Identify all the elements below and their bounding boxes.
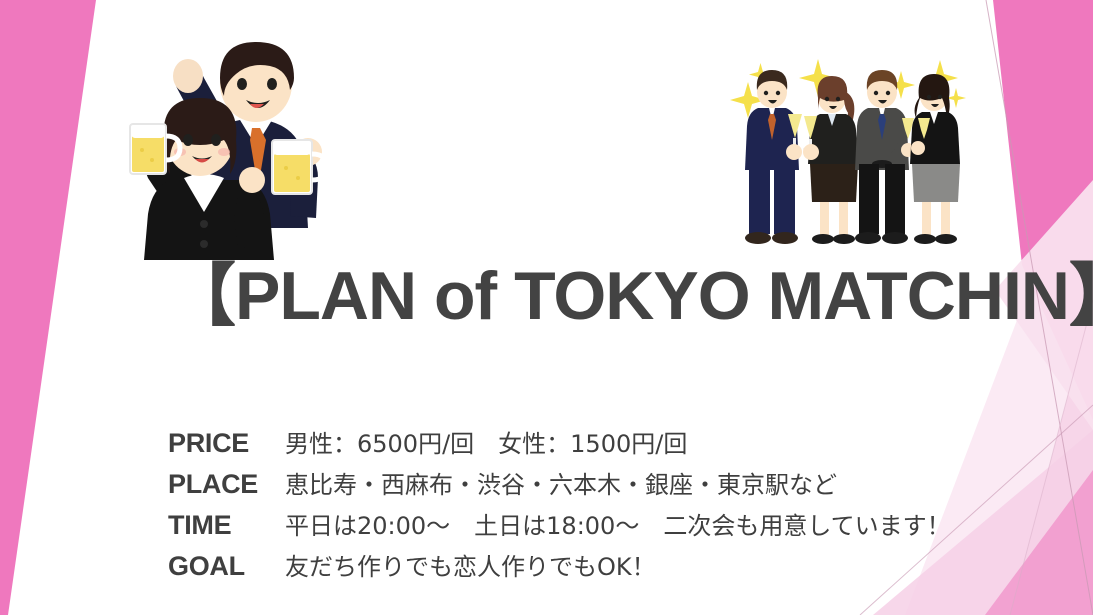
detail-value-goal: 友だち作りでも恋人作りでもOK！: [285, 547, 656, 582]
detail-label-time: TIME: [168, 510, 285, 541]
detail-label-place: PLACE: [168, 469, 285, 500]
detail-row-place: PLACE 恵比寿・西麻布・渋谷・六本木・銀座・東京駅など: [168, 465, 988, 506]
slide-title: 【PLAN of TOKYO MATCHIN】: [168, 262, 1008, 330]
cheers-couple-illustration: [100, 28, 345, 260]
detail-row-price: PRICE 男性：6500円/回 女性：1500円/回: [168, 424, 988, 465]
person-man-grey: [855, 70, 915, 244]
detail-label-price: PRICE: [168, 428, 285, 459]
detail-value-price: 男性：6500円/回 女性：1500円/回: [285, 424, 687, 459]
slide-canvas: 【PLAN of TOKYO MATCHIN】 PRICE 男性：6500円/回…: [0, 0, 1093, 615]
party-group-illustration: [722, 52, 967, 252]
detail-row-goal: GOAL 友だち作りでも恋人作りでもOK！: [168, 547, 988, 588]
details-list: PRICE 男性：6500円/回 女性：1500円/回 PLACE 恵比寿・西麻…: [168, 424, 988, 588]
detail-value-time: 平日は20:00〜 土日は18:00〜 二次会も用意しています！: [285, 506, 951, 541]
person-woman-ponytail: [803, 76, 858, 244]
detail-value-place: 恵比寿・西麻布・渋谷・六本木・銀座・東京駅など: [285, 465, 837, 500]
detail-row-time: TIME 平日は20:00〜 土日は18:00〜 二次会も用意しています！: [168, 506, 988, 547]
detail-label-goal: GOAL: [168, 551, 285, 582]
person-man-navy: [745, 70, 802, 244]
